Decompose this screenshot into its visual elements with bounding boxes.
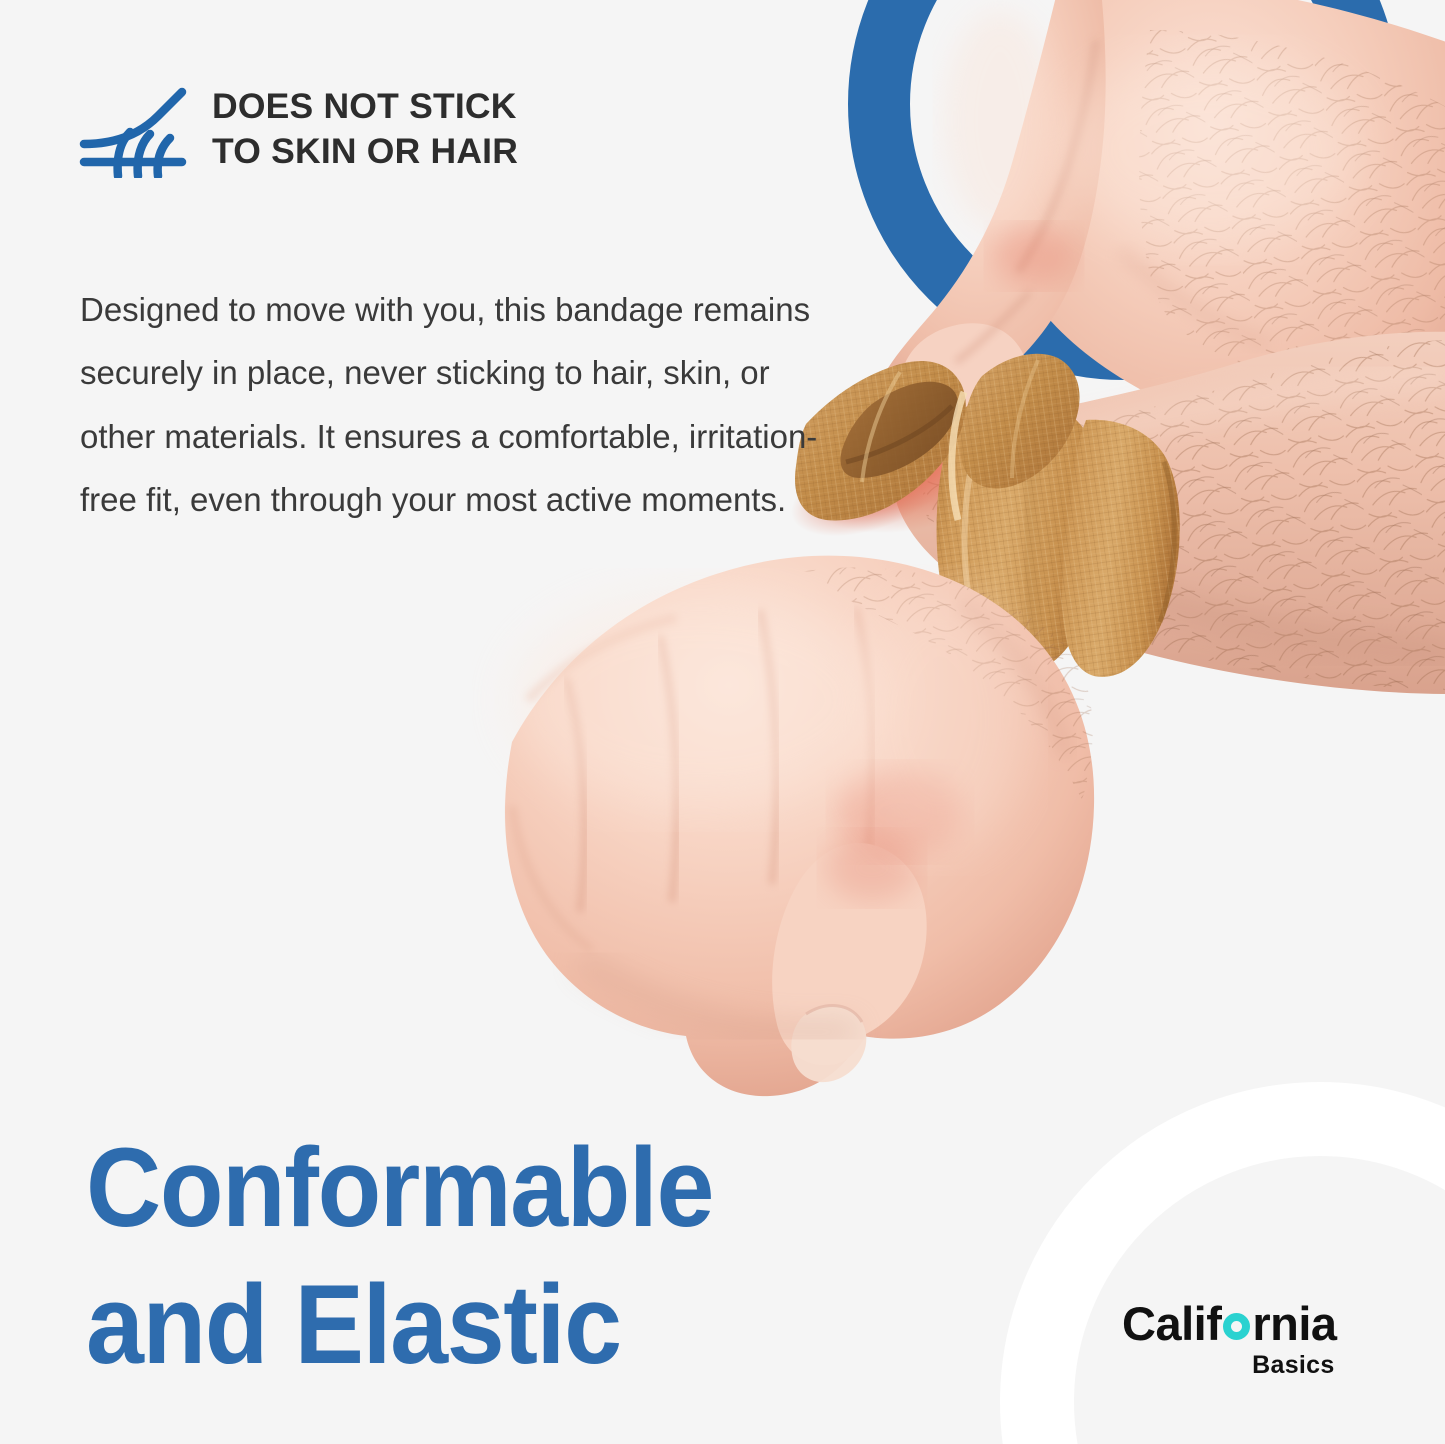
feature-heading-block: DOES NOT STICK TO SKIN OR HAIR <box>78 78 718 178</box>
brand-logo-subtitle: Basics <box>1122 1351 1335 1380</box>
bandage-applied <box>937 396 1180 677</box>
no-stick-hair-icon <box>78 82 190 178</box>
decorative-white-ring <box>1000 1082 1445 1444</box>
feature-body-text: Designed to move with you, this bandage … <box>80 278 822 531</box>
feature-title: DOES NOT STICK TO SKIN OR HAIR <box>212 78 518 175</box>
brand-logo-name-part1: Calif <box>1122 1300 1221 1347</box>
product-feature-poster: DOES NOT STICK TO SKIN OR HAIR Designed … <box>0 0 1445 1444</box>
teal-ring-letter-o-icon <box>1223 1313 1250 1340</box>
decorative-blue-ring <box>848 0 1400 380</box>
main-headline: Conformable and Elastic <box>86 1120 713 1393</box>
clenched-fist <box>505 556 1094 1096</box>
feature-title-line2: TO SKIN OR HAIR <box>212 131 518 171</box>
forearm <box>894 332 1445 694</box>
brand-logo: Calif rnia Basics <box>1122 1300 1337 1380</box>
headline-line1: Conformable <box>86 1120 713 1257</box>
brand-logo-name-part2: rnia <box>1252 1300 1336 1347</box>
feature-title-line1: DOES NOT STICK <box>212 86 517 126</box>
brand-logo-wordmark: Calif rnia <box>1122 1300 1337 1347</box>
bandage-peeled-flap <box>795 354 1080 521</box>
headline-line2: and Elastic <box>86 1257 713 1394</box>
